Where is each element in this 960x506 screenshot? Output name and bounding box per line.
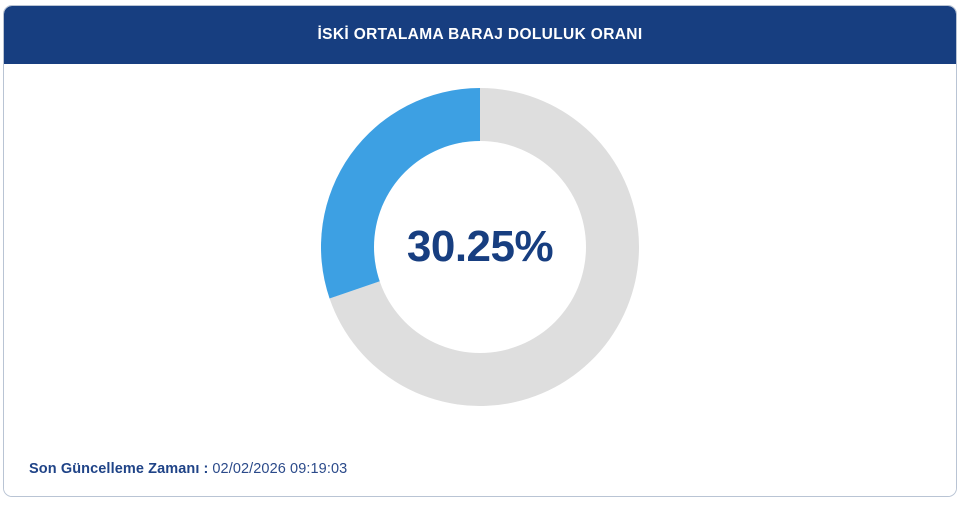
chart-container: 30.25% — [4, 88, 956, 406]
last-update-separator: : — [204, 461, 209, 477]
page-title: İSKİ ORTALAMA BARAJ DOLULUK ORANI — [318, 26, 643, 44]
card-header: İSKİ ORTALAMA BARAJ DOLULUK ORANI — [4, 6, 956, 64]
card-footer: Son Güncelleme Zamanı : 02/02/2026 09:19… — [4, 442, 956, 496]
card-body: 30.25% — [4, 64, 956, 442]
last-update-label: Son Güncelleme Zamanı — [29, 461, 200, 477]
donut-chart: 30.25% — [321, 88, 639, 406]
donut-chart-svg — [321, 88, 639, 406]
dam-occupancy-card: İSKİ ORTALAMA BARAJ DOLULUK ORANI 30.25% — [3, 5, 957, 497]
last-update-value: 02/02/2026 09:19:03 — [212, 461, 347, 477]
page-root: İSKİ ORTALAMA BARAJ DOLULUK ORANI 30.25% — [0, 0, 960, 506]
donut-hole — [374, 141, 586, 353]
